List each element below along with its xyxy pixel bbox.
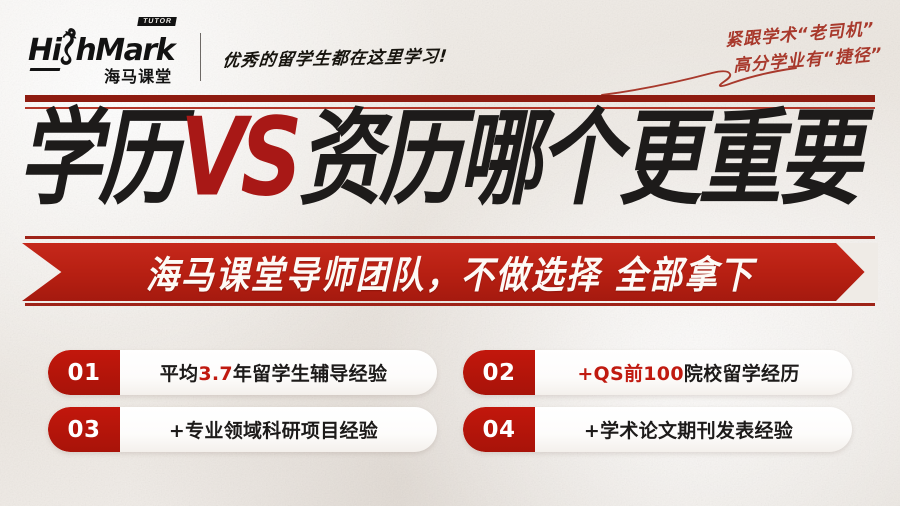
feature-number-badge: 01 <box>48 350 120 395</box>
logo-underline-stroke <box>30 68 61 71</box>
headline-part-1: 学历 <box>18 98 178 220</box>
feature-prefix: 平均 <box>160 363 199 385</box>
ribbon-text: 海马课堂导师团队，不做选择 全部拿下 <box>146 245 755 300</box>
feature-suffix: 院校留学经历 <box>684 363 800 385</box>
feature-number-badge: 04 <box>463 407 535 452</box>
headline-part-2: 资历哪个更重要 <box>299 98 859 220</box>
logo-text-mark: hMark <box>75 36 174 66</box>
list-item[interactable]: 02 +QS前100院校留学经历 <box>463 350 852 395</box>
ribbon-banner: 海马课堂导师团队，不做选择 全部拿下 <box>22 243 878 301</box>
header: Hi hMark TUTOR 海马课堂 优秀的留学生都在这里学习! <box>28 26 448 87</box>
feature-highlight: +QS前100 <box>577 363 684 385</box>
header-divider <box>200 33 201 81</box>
page-title: 学历VS资历哪个更重要 <box>18 104 890 215</box>
list-item[interactable]: 01 平均3.7年留学生辅导经验 <box>48 350 437 395</box>
feature-label: 平均3.7年留学生辅导经验 <box>120 359 437 386</box>
list-item[interactable]: 03 +专业领域科研项目经验 <box>48 407 437 452</box>
list-item[interactable]: 04 +学术论文期刊发表经验 <box>463 407 852 452</box>
promo-banner: Hi hMark TUTOR 海马课堂 优秀的留学生都在这里学习! 紧跟学术“老… <box>0 0 900 506</box>
ribbon-rule-bottom <box>25 303 875 306</box>
feature-suffix: 年留学生辅导经验 <box>233 363 387 385</box>
feature-number-badge: 02 <box>463 350 535 395</box>
handwritten-note: 紧跟学术“老司机” 高分学业有“捷径” <box>724 16 878 80</box>
feature-highlight: 3.7 <box>198 363 233 385</box>
logo-wordmark: Hi hMark TUTOR <box>28 26 174 66</box>
feature-label: +学术论文期刊发表经验 <box>535 416 852 443</box>
ribbon-rule-top <box>25 236 875 239</box>
logo-text-hi: Hi <box>28 36 60 66</box>
tutor-badge: TUTOR <box>137 17 177 26</box>
feature-label: +QS前100院校留学经历 <box>535 359 852 386</box>
feature-prefix: +学术论文期刊发表经验 <box>584 420 793 442</box>
feature-label: +专业领域科研项目经验 <box>120 416 437 443</box>
feature-list: 01 平均3.7年留学生辅导经验 02 +QS前100院校留学经历 03 +专业… <box>48 350 852 452</box>
brand-tagline: 优秀的留学生都在这里学习! <box>222 42 449 72</box>
feature-number-badge: 03 <box>48 407 120 452</box>
seahorse-icon <box>59 26 76 66</box>
headline-vs: VS <box>178 95 299 221</box>
feature-prefix: +专业领域科研项目经验 <box>169 420 378 442</box>
brand-logo[interactable]: Hi hMark TUTOR 海马课堂 <box>28 26 174 87</box>
